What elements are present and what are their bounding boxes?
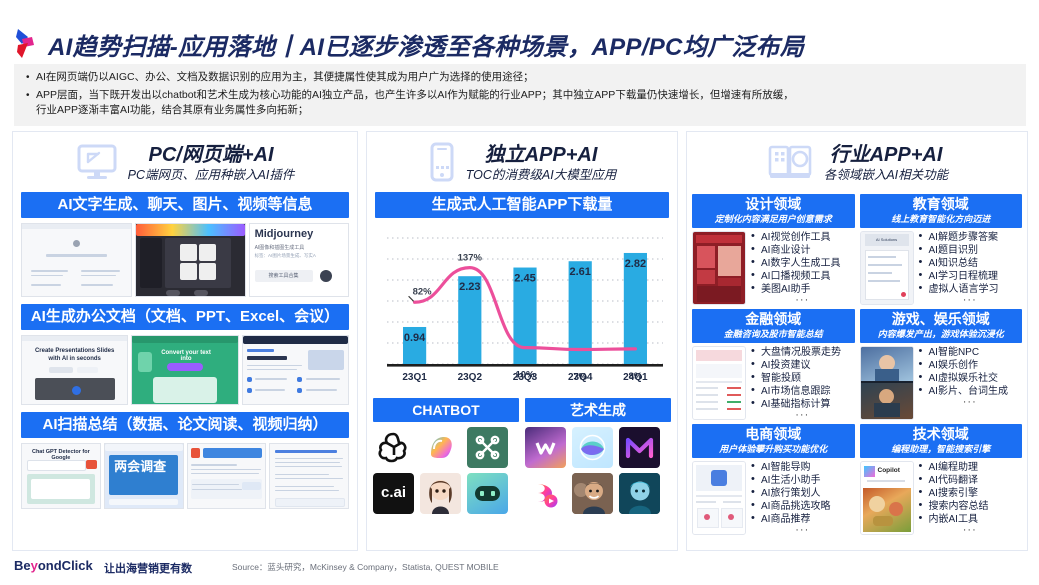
panel-pc-subtitle: PC端网页、应用种嵌入AI插件 [128, 168, 295, 182]
screenshot-strip-2: Create Presentations Slides with AI in s… [21, 335, 349, 405]
domain-header: 教育领域线上教育智能化方向迈进 [860, 194, 1023, 228]
list-item: AI基础指标计算 [750, 398, 855, 411]
group-label-art-generation: 艺术生成 [525, 398, 671, 422]
panel-industry-title: 行业APP+AI [830, 144, 943, 166]
bullet-dot: • [26, 70, 36, 85]
domain-header: 设计领域定制化内容满足用户创意需求 [692, 194, 855, 228]
screenshot-strip-1: Midjourney AI图像和插图生成工具 标签：AI图片场景生成、写实A 搜… [21, 223, 349, 297]
domain-tagline: 内容爆发产出，游戏体验沉浸化 [860, 328, 1023, 340]
list-item: AI商品推荐 [750, 513, 855, 526]
phone-icon [428, 142, 456, 187]
bullet-item: • AI在网页端仍以AIGC、办公、文档及数据识别的应用为主，其便捷属性使其成为… [26, 70, 1016, 85]
list-item: AI智能导购 [750, 461, 855, 474]
openai-logo-icon[interactable] [373, 427, 414, 468]
list-item: AI口播视频工具 [750, 270, 855, 283]
domain-name: 游戏、娱乐领域 [860, 311, 1023, 328]
brand-search-button[interactable]: 搜索工具合集 [255, 270, 313, 282]
list-item: AI投资建议 [750, 359, 855, 372]
app-group-chatbot: CHATBOT [373, 398, 519, 514]
domain-cell-4: 电商领域用户体验攀升购买功能优化AI智能导购AI生活小助手AI旅行策划人AI商品… [692, 424, 855, 535]
domain-feature-list: AI智能NPCAI娱乐创作AI虚拟娱乐社交AI影片、台词生成··· [918, 346, 1023, 420]
domain-cell-3: 游戏、娱乐领域内容爆发产出，游戏体验沉浸化AI智能NPCAI娱乐创作AI虚拟娱乐… [860, 309, 1023, 420]
screenshot-workspace-ai [242, 335, 349, 405]
list-item: 大盘情况股票走势 [750, 346, 855, 359]
shot-caption: Create Presentations Slides with AI in s… [28, 347, 121, 363]
industry-devices-icon [766, 143, 814, 186]
brand-logo: BeyondClick [14, 558, 93, 573]
copilot-screenshot: Copilot [860, 461, 914, 535]
domain-header: 金融领域金融咨询及股市智能总结 [692, 309, 855, 343]
list-item: AI商品挑选攻略 [750, 500, 855, 513]
finance-app-screenshot [692, 346, 746, 420]
svg-text:23Q1: 23Q1 [402, 372, 427, 383]
screenshot-paper-reader [269, 443, 349, 509]
list-item: AI数字人生成工具 [750, 257, 855, 270]
domain-row: 设计领域定制化内容满足用户创意需求AI视觉创作工具AI商业设计AI数字人生成工具… [692, 194, 1022, 305]
panel-industry-header: 行业APP+AI 各领域嵌入AI相关功能 [687, 132, 1027, 192]
domain-row: 金融领域金融咨询及股市智能总结大盘情况股票走势AI投资建议智能投顾AI市场信息跟… [692, 309, 1022, 420]
chatbot-robot-icon[interactable] [467, 473, 508, 514]
screenshot-gpt-detector: Chat GPT Detector for Google [21, 443, 101, 509]
list-item: AI智能NPC [918, 346, 1023, 359]
panel-industry-subtitle: 各领域嵌入AI相关功能 [824, 168, 948, 182]
section-label-ai-text-gen: AI文字生成、聊天、图片、视频等信息 [21, 192, 349, 218]
slide-root: AI趋势扫描-应用落地丨AI已逐步渗透至各种场景，APP/PC均广泛布局 • A… [0, 0, 1039, 585]
list-item: AI商业设计 [750, 244, 855, 257]
svg-text:2.61: 2.61 [569, 266, 590, 278]
slide-header: AI趋势扫描-应用落地丨AI已逐步渗透至各种场景，APP/PC均广泛布局 [0, 22, 1039, 66]
list-item: AI旅行策划人 [750, 487, 855, 500]
summary-bullets: • AI在网页端仍以AIGC、办公、文档及数据识别的应用为主，其便捷属性使其成为… [14, 64, 1026, 126]
svg-text:23Q4: 23Q4 [568, 372, 593, 383]
group-label-chatbot: CHATBOT [373, 398, 519, 422]
panel-app-header: 独立APP+AI TOC的消费级AI大模型应用 [367, 132, 677, 192]
svg-text:23Q2: 23Q2 [458, 372, 483, 383]
more-indicator: ··· [750, 411, 855, 419]
list-item: 内嵌AI工具 [918, 513, 1023, 526]
domain-cell-1: 教育领域线上教育智能化方向迈进AI SolutionsAI解题步骤答案AI题目识… [860, 194, 1023, 305]
industry-domain-grid: 设计领域定制化内容满足用户创意需求AI视觉创作工具AI商业设计AI数字人生成工具… [692, 194, 1022, 535]
ecommerce-app-screenshot [692, 461, 746, 535]
domain-name: 设计领域 [692, 196, 855, 213]
list-item: AI知识总结 [918, 257, 1023, 270]
domain-name: 金融领域 [692, 311, 855, 328]
microsoft-copilot-icon[interactable] [420, 427, 461, 468]
brand-part2: ondClick [38, 558, 93, 573]
panel-pc-title: PC/网页端+AI [148, 144, 273, 166]
domain-name: 电商领域 [692, 426, 855, 443]
domain-row: 电商领域用户体验攀升购买功能优化AI智能导购AI生活小助手AI旅行策划人AI商品… [692, 424, 1022, 535]
svg-text:0.94: 0.94 [404, 332, 426, 344]
panel-app-subtitle: TOC的消费级AI大模型应用 [466, 168, 616, 182]
bullet-item: • APP层面，当下既开发出以chatbot和艺术生成为核心功能的AI独立产品，… [26, 88, 1016, 118]
svg-text:23Q3: 23Q3 [513, 372, 538, 383]
more-indicator: ··· [918, 296, 1023, 304]
domain-name: 技术领域 [860, 426, 1023, 443]
svg-text:24Q1: 24Q1 [623, 372, 648, 383]
domain-tagline: 金融咨询及股市智能总结 [692, 328, 855, 340]
avatar-girl-icon[interactable] [420, 473, 461, 514]
screenshot-text-to-video: Convert your text into [131, 335, 238, 405]
midjourney-m-icon[interactable] [619, 427, 660, 468]
bullet-dot: • [26, 88, 36, 103]
list-item: AI虚拟娱乐社交 [918, 372, 1023, 385]
domain-feature-list: AI智能导购AI生活小助手AI旅行策划人AI商品挑选攻略AI商品推荐··· [750, 461, 855, 535]
domain-feature-list: AI解题步骤答案AI题目识别AI知识总结AI学习日程梳理虚拟人语言学习··· [918, 231, 1023, 305]
screenshot-article-ai [187, 443, 267, 509]
bullet-text: AI在网页端仍以AIGC、办公、文档及数据识别的应用为主，其便捷属性使其成为用户… [36, 70, 1016, 85]
list-item: AI娱乐创作 [918, 359, 1023, 372]
list-item: 美图AI助手 [750, 283, 855, 296]
domain-feature-list: AI编程助理AI代码翻译AI搜索引擎搜索内容总结内嵌AI工具··· [918, 461, 1023, 535]
bullet-text-line2: 行业APP逐渐丰富AI功能，结合其原有业务属性多向拓新； [36, 103, 1016, 118]
domain-name: 教育领域 [860, 196, 1023, 213]
brand-name-midjourney: Midjourney [255, 228, 314, 240]
domain-tagline: 线上教育智能化方向迈进 [860, 213, 1023, 225]
svg-text:2.45: 2.45 [514, 273, 535, 285]
screenshot-chatgpt [21, 223, 132, 297]
brand-tag: 标签：AI图片场景生成、写实A [255, 253, 316, 259]
list-item: AI代码翻译 [918, 474, 1023, 487]
screenshot-midjourney-listing: Midjourney AI图像和插图生成工具 标签：AI图片场景生成、写实A 搜… [249, 223, 349, 297]
monitor-icon [76, 143, 118, 186]
panel-standalone-app: 独立APP+AI TOC的消费级AI大模型应用 生成式人工智能APP下载量 0.… [366, 131, 678, 551]
section-label-ai-office-docs: AI生成办公文档（文档、PPT、Excel、会议） [21, 304, 349, 330]
domain-tagline: 编程助理，智能搜索引擎 [860, 443, 1023, 455]
list-item: AI编程助理 [918, 461, 1023, 474]
list-item: AI影片、台词生成 [918, 385, 1023, 398]
panel-pc-header: PC/网页端+AI PC端网页、应用种嵌入AI插件 [13, 132, 357, 192]
downloads-chart: 0.942.232.452.612.8282%137%10%7%8%23Q123… [373, 224, 671, 392]
brand-subtitle: AI图像和插图生成工具 [255, 244, 305, 251]
screenshot-video-summary: 两会调查 [104, 443, 184, 509]
chatbot-icon-row-2: c.ai [373, 473, 519, 514]
svg-text:2.82: 2.82 [625, 258, 646, 270]
design-app-screenshot [692, 231, 746, 305]
more-indicator: ··· [918, 526, 1023, 534]
chart-title: 生成式人工智能APP下载量 [375, 192, 669, 218]
list-item: 搜索内容总结 [918, 500, 1023, 513]
svg-text:2.23: 2.23 [459, 281, 480, 293]
chatbot-icon-row-1 [373, 427, 519, 468]
domain-tagline: 用户体验攀升购买功能优化 [692, 443, 855, 455]
brand-part1: Be [14, 558, 31, 573]
screenshot-midjourney-app [135, 223, 246, 297]
panel-industry-app: 行业APP+AI 各领域嵌入AI相关功能 设计领域定制化内容满足用户创意需求AI… [686, 131, 1028, 551]
more-indicator: ··· [750, 296, 855, 304]
art-icon-row-1 [525, 427, 671, 468]
list-item: AI视觉创作工具 [750, 231, 855, 244]
page-title: AI趋势扫描-应用落地丨AI已逐步渗透至各种场景，APP/PC均广泛布局 [48, 27, 804, 62]
domain-cell-0: 设计领域定制化内容满足用户创意需求AI视觉创作工具AI商业设计AI数字人生成工具… [692, 194, 855, 305]
app-groups: CHATBOT [373, 398, 671, 514]
game-entertainment-screenshot [860, 346, 914, 420]
domain-header: 游戏、娱乐领域内容爆发产出，游戏体验沉浸化 [860, 309, 1023, 343]
brand-tagline: 让出海营销更有数 [104, 560, 192, 576]
shot-caption: 两会调查 [114, 460, 166, 474]
slide-footer: BeyondClick 让出海营销更有数 Source：蓝头研究，McKinse… [0, 556, 1039, 584]
list-item: AI市场信息跟踪 [750, 385, 855, 398]
shot-caption: Convert your text into [156, 350, 217, 362]
screenshot-presentation-ai: Create Presentations Slides with AI in s… [21, 335, 128, 405]
list-item: AI解题步骤答案 [918, 231, 1023, 244]
beyondclick-chevron-logo-icon [14, 27, 40, 61]
list-item: AI学习日程梳理 [918, 270, 1023, 283]
list-item: 虚拟人语言学习 [918, 283, 1023, 296]
wombo-dream-icon[interactable] [525, 427, 566, 468]
domain-tagline: 定制化内容满足用户创意需求 [692, 213, 855, 225]
list-item: AI搜索引擎 [918, 487, 1023, 500]
domain-header: 技术领域编程助理，智能搜索引擎 [860, 424, 1023, 458]
character-ai-icon[interactable]: c.ai [373, 473, 414, 514]
more-indicator: ··· [750, 526, 855, 534]
section-label-ai-scan-summary: AI扫描总结（数据、论文阅读、视频归纳） [21, 412, 349, 438]
domain-feature-list: 大盘情况股票走势AI投资建议智能投顾AI市场信息跟踪AI基础指标计算··· [750, 346, 855, 420]
lensa-icon[interactable] [572, 427, 613, 468]
three-panel-row: PC/网页端+AI PC端网页、应用种嵌入AI插件 AI文字生成、聊天、图片、视… [12, 131, 1028, 551]
source-note: Source：蓝头研究，McKinsey & Company，Statista,… [232, 561, 499, 573]
wrtn-icon[interactable] [467, 427, 508, 468]
domain-header: 电商领域用户体验攀升购买功能优化 [692, 424, 855, 458]
panel-pc-web: PC/网页端+AI PC端网页、应用种嵌入AI插件 AI文字生成、聊天、图片、视… [12, 131, 358, 551]
screenshot-strip-3: Chat GPT Detector for Google 两会调查 [21, 443, 349, 509]
bullet-text: APP层面，当下既开发出以chatbot和艺术生成为核心功能的AI独立产品，也产… [36, 89, 794, 101]
domain-feature-list: AI视觉创作工具AI商业设计AI数字人生成工具AI口播视频工具美图AI助手··· [750, 231, 855, 305]
svg-text:82%: 82% [413, 286, 433, 297]
portrait-male-icon[interactable] [572, 473, 613, 514]
art-icon-row-2 [525, 473, 671, 514]
panel-app-title: 独立APP+AI [485, 144, 598, 166]
list-item: 智能投顾 [750, 372, 855, 385]
portrait-cyber-icon[interactable] [619, 473, 660, 514]
domain-cell-2: 金融领域金融咨询及股市智能总结大盘情况股票走势AI投资建议智能投顾AI市场信息跟… [692, 309, 855, 420]
more-indicator: ··· [918, 398, 1023, 406]
education-app-screenshot: AI Solutions [860, 231, 914, 305]
list-item: AI题目识别 [918, 244, 1023, 257]
domain-cell-5: 技术领域编程助理，智能搜索引擎CopilotAI编程助理AI代码翻译AI搜索引擎… [860, 424, 1023, 535]
spark-video-icon[interactable] [525, 473, 566, 514]
svg-text:137%: 137% [458, 253, 483, 264]
brand-accent: y [31, 558, 38, 573]
app-group-art: 艺术生成 [525, 398, 671, 514]
list-item: AI生活小助手 [750, 474, 855, 487]
